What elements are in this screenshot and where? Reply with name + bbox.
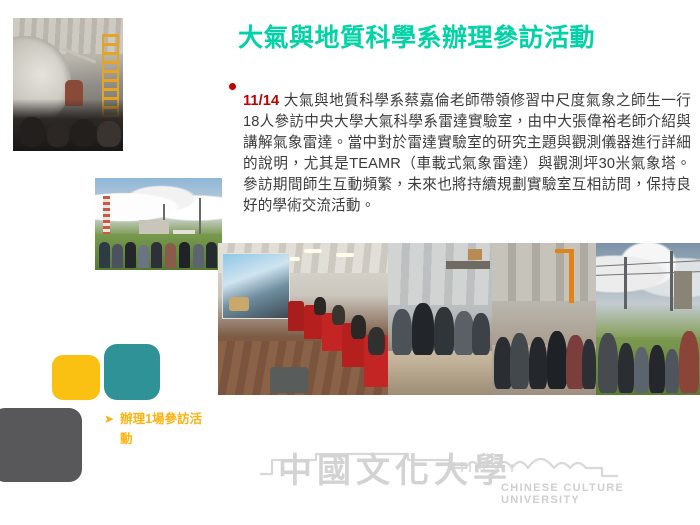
photo-strip [218,243,700,395]
body-text-container: 11/14 大氣與地質科學系蔡嘉倫老師帶領修習中尺度氣象之師生一行18人參訪中央… [229,76,691,231]
photo-detail-student [454,311,474,355]
university-logo-watermark: 中國文化大學 CHINESE CULTURE UNIVERSITY [258,452,678,512]
logo-english-name: CHINESE CULTURE UNIVERSITY [501,482,678,506]
photo-outdoor-field-students [95,178,222,270]
photo-detail-utility-pole [670,251,673,311]
photo-detail-student [598,333,618,393]
slide-title-container: 大氣與地質科學系辦理參訪活動 [238,24,690,54]
red-dot-bullet-icon [229,83,236,90]
photo-detail-student [529,337,547,389]
photo-detail-student [510,333,529,389]
photo-detail-student [165,243,176,268]
photo-detail-student [649,345,665,393]
photo-detail-student [179,242,190,268]
photo-detail-student [151,242,162,268]
photo-detail-head [19,117,45,147]
photo-detail-student [125,242,136,268]
photo-detail-head [47,123,69,147]
summary-note-text: 辦理1場參訪活動 [120,410,210,450]
photo-detail-student [392,309,412,355]
photo-detail-pole [199,198,201,238]
photo-detail-projector [270,367,308,393]
photo-detail-light [336,253,354,257]
photo-detail-head [71,119,96,147]
photo-detail-attendee [314,297,326,315]
photo-detail-attendee [351,315,366,339]
photo-detail-bench [388,351,492,395]
bullet-row: 11/14 大氣與地質科學系蔡嘉倫老師帶領修習中尺度氣象之師生一行18人參訪中央… [229,76,691,231]
logo-chinese-name: 中國文化大學 [278,454,512,488]
photo-detail-student [138,245,149,268]
photo-detail-box [468,249,482,260]
decor-shape-yellow [52,355,100,400]
photo-detail-seat [288,301,304,331]
photo-outdoor-weather-tower [596,243,700,395]
photo-detail-student [634,347,649,393]
photo-detail-student [679,331,699,393]
event-date: 11/14 [243,93,279,109]
photo-detail-building [492,243,596,301]
body-paragraph-text: 大氣與地質科學系蔡嘉倫老師帶領修習中尺度氣象之師生一行18人參訪中央大學大氣科學… [243,93,691,214]
photo-students-queue-building [492,243,596,395]
photo-detail-attendee [332,305,345,325]
photo-detail-student [434,307,454,355]
photo-radar-dish-students [13,18,123,151]
photo-detail-student [665,349,679,393]
photo-students-looking-up [388,243,492,395]
photo-detail-student [206,242,217,268]
body-paragraph: 11/14 大氣與地質科學系蔡嘉倫老師帶領修習中尺度氣象之師生一行18人參訪中央… [243,91,691,217]
photo-detail-utility-pole [624,257,627,309]
photo-detail-student [547,331,567,389]
decor-shape-gray [0,408,82,482]
page-title: 大氣與地質科學系辦理參訪活動 [238,24,690,54]
photo-detail-student [582,339,596,389]
photo-detail-clouds [95,182,222,224]
photo-detail-shelf [446,261,490,269]
photo-detail-student [99,242,110,268]
summary-note: ➤ 辦理1場參訪活動 [104,410,210,450]
decor-shape-teal [104,344,160,400]
photo-detail-light [304,249,322,253]
photo-detail-head [97,121,121,147]
photo-detail-crane [569,249,574,303]
photo-detail-student [112,244,123,268]
photo-detail-student [618,343,634,393]
photo-detail-distant-tower [674,271,692,309]
photo-lecture-hall-presentation [218,243,388,395]
photo-detail-student [472,313,490,355]
photo-detail-attendee [368,327,385,355]
orange-arrow-bullet-icon: ➤ [104,410,114,428]
photo-detail-projection-screen [222,253,290,319]
presentation-slide: 大氣與地質科學系辦理參訪活動 11/14 大氣與地質科學系蔡嘉倫老師帶領修習中尺… [0,0,700,525]
photo-detail-student [412,303,434,355]
photo-detail-student [193,244,204,268]
